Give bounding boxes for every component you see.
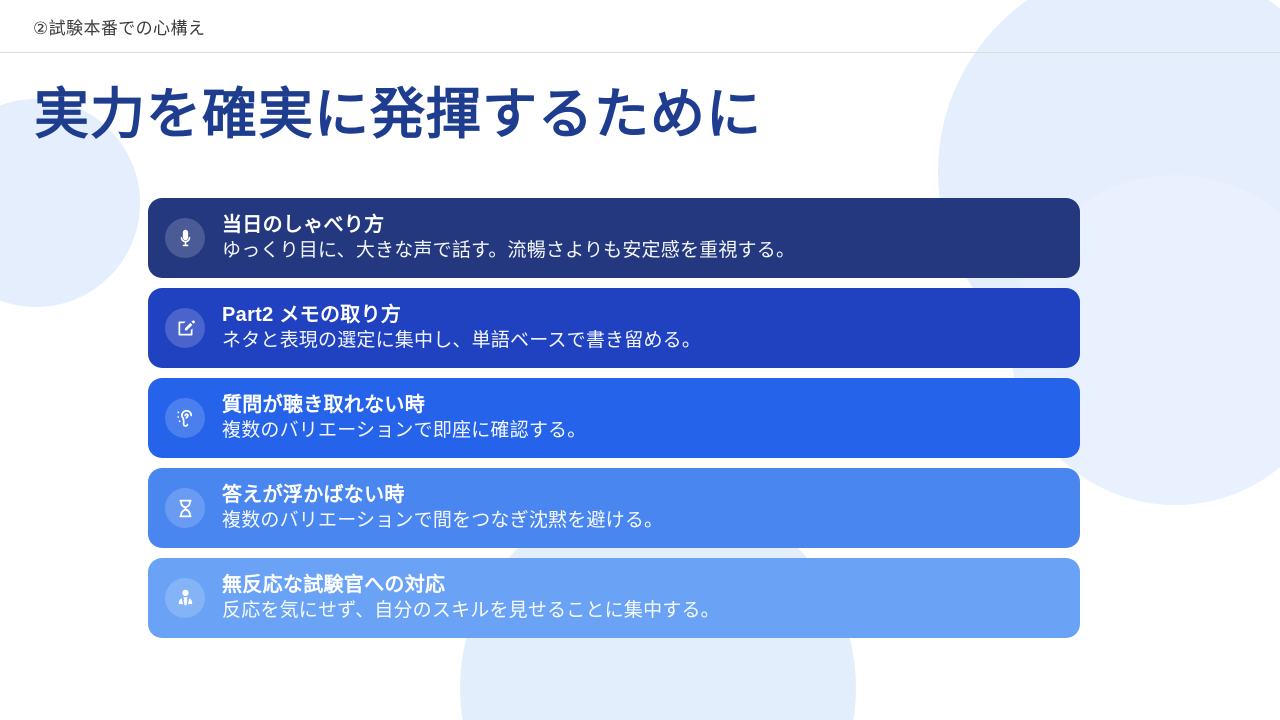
- hourglass-icon: [165, 488, 205, 528]
- page-title: 実力を確実に発揮するために: [34, 84, 762, 145]
- card-description: ネタと表現の選定に集中し、単語ベースで書き留める。: [222, 328, 701, 354]
- slide-header: ②試験本番での心構え: [0, 0, 1280, 53]
- card-text: 当日のしゃべり方 ゆっくり目に、大きな声で話す。流暢さよりも安定感を重視する。: [222, 212, 795, 264]
- card-description: 複数のバリエーションで間をつなぎ沈黙を避ける。: [222, 508, 663, 534]
- card-title: 答えが浮かばない時: [222, 482, 663, 508]
- card-text: 答えが浮かばない時 複数のバリエーションで間をつなぎ沈黙を避ける。: [222, 482, 663, 534]
- list-item[interactable]: 当日のしゃべり方 ゆっくり目に、大きな声で話す。流暢さよりも安定感を重視する。: [148, 198, 1080, 278]
- microphone-icon: [165, 218, 205, 258]
- ear-listen-icon: [165, 398, 205, 438]
- pencil-square-icon: [165, 308, 205, 348]
- card-title: 当日のしゃべり方: [222, 212, 795, 238]
- card-description: 反応を気にせず、自分のスキルを見せることに集中する。: [222, 598, 720, 624]
- slide: ②試験本番での心構え 実力を確実に発揮するために 当日のしゃべり方 ゆっくり目に…: [0, 0, 1280, 720]
- card-title: 質問が聴き取れない時: [222, 392, 586, 418]
- card-description: 複数のバリエーションで即座に確認する。: [222, 418, 586, 444]
- list-item[interactable]: Part2 メモの取り方 ネタと表現の選定に集中し、単語ベースで書き留める。: [148, 288, 1080, 368]
- card-text: Part2 メモの取り方 ネタと表現の選定に集中し、単語ベースで書き留める。: [222, 302, 701, 354]
- card-text: 質問が聴き取れない時 複数のバリエーションで即座に確認する。: [222, 392, 586, 444]
- person-tie-icon: [165, 578, 205, 618]
- list-item[interactable]: 答えが浮かばない時 複数のバリエーションで間をつなぎ沈黙を避ける。: [148, 468, 1080, 548]
- card-title: 無反応な試験官への対応: [222, 572, 720, 598]
- card-description: ゆっくり目に、大きな声で話す。流暢さよりも安定感を重視する。: [222, 238, 795, 264]
- list-item[interactable]: 質問が聴き取れない時 複数のバリエーションで即座に確認する。: [148, 378, 1080, 458]
- card-list: 当日のしゃべり方 ゆっくり目に、大きな声で話す。流暢さよりも安定感を重視する。 …: [148, 198, 1080, 638]
- list-item[interactable]: 無反応な試験官への対応 反応を気にせず、自分のスキルを見せることに集中する。: [148, 558, 1080, 638]
- card-title: Part2 メモの取り方: [222, 302, 701, 328]
- card-text: 無反応な試験官への対応 反応を気にせず、自分のスキルを見せることに集中する。: [222, 572, 720, 624]
- header-title: ②試験本番での心構え: [33, 14, 205, 39]
